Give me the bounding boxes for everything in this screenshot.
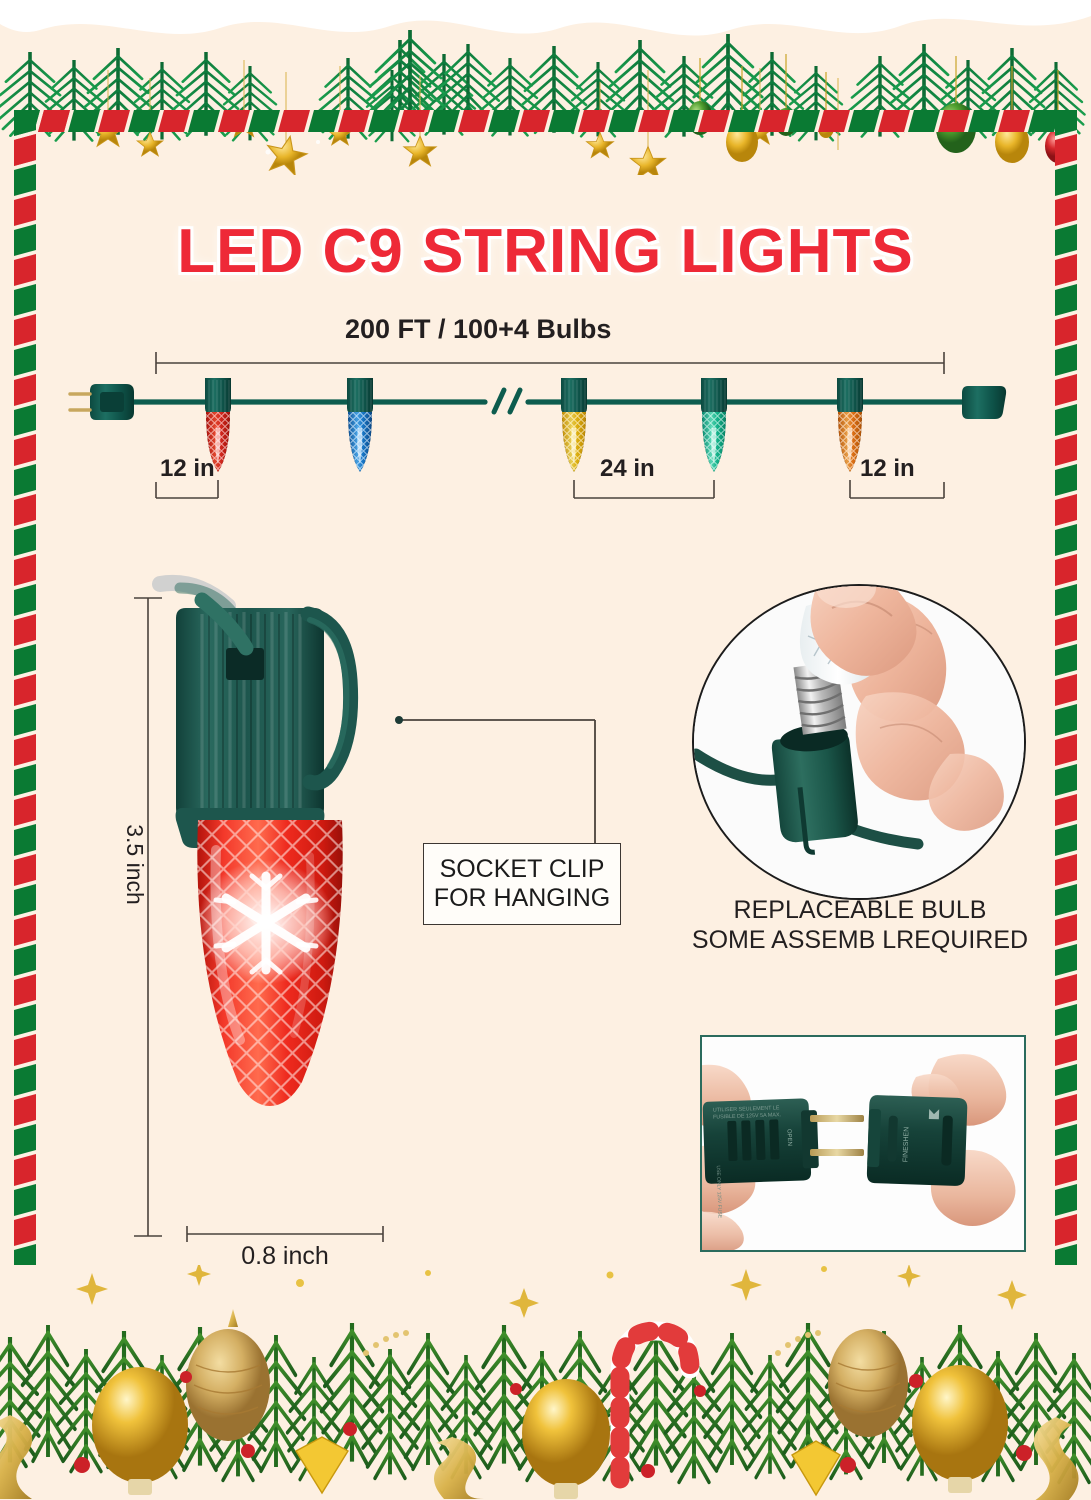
- connector-plug-photo: UTILISER SEULEMENT LE FUSIBLE DE 125V 5A…: [700, 1035, 1026, 1252]
- callout-line-1: SOCKET CLIP: [440, 855, 605, 885]
- frame-stripe-top: [14, 110, 1077, 132]
- bulb-yellow: [561, 378, 587, 472]
- bulb-width-dimension: 0.8 inch: [185, 1222, 385, 1284]
- plug-brand-text: FINESHEN: [902, 1127, 910, 1163]
- top-pine-garland-decoration: [0, 0, 1091, 175]
- callout-line-2: FOR HANGING: [434, 884, 610, 914]
- total-span-label: 200 FT / 100+4 Bulbs: [345, 314, 611, 345]
- dimension-middle-24in: 24 in: [600, 455, 655, 483]
- socket-clip-callout: SOCKET CLIP FOR HANGING: [423, 843, 621, 925]
- bulb-blue: [347, 378, 373, 472]
- replaceable-bulb-caption: REPLACEABLE BULB SOME ASSEMB LREQUIRED: [660, 895, 1060, 955]
- caption-line-1: REPLACEABLE BULB: [660, 895, 1060, 925]
- frame-stripe-left: [14, 110, 36, 1300]
- socket-clip-leader-line: [395, 680, 625, 855]
- bulb-teal: [701, 378, 727, 472]
- replaceable-bulb-photo: [692, 584, 1026, 900]
- product-infographic: LED C9 STRING LIGHTS: [0, 0, 1091, 1500]
- bulb-width-label: 0.8 inch: [185, 1242, 385, 1271]
- caption-line-2: SOME ASSEMB LREQUIRED: [660, 925, 1060, 955]
- plug-text-open: OPEN: [786, 1129, 793, 1146]
- frame-stripe-right: [1055, 110, 1077, 1300]
- dimension-left-12in: 12 in: [160, 455, 215, 483]
- bottom-pine-garland-decoration: [0, 1265, 1091, 1500]
- female-socket-icon: [962, 386, 1006, 419]
- male-plug-icon: [70, 384, 134, 420]
- large-c9-bulb-illustration: [120, 570, 450, 1260]
- string-light-diagram: 200 FT / 100+4 Bulbs 12 in 24 in 12 in: [60, 320, 1020, 525]
- page-title: LED C9 STRING LIGHTS: [0, 216, 1091, 287]
- dimension-right-12in: 12 in: [860, 455, 915, 483]
